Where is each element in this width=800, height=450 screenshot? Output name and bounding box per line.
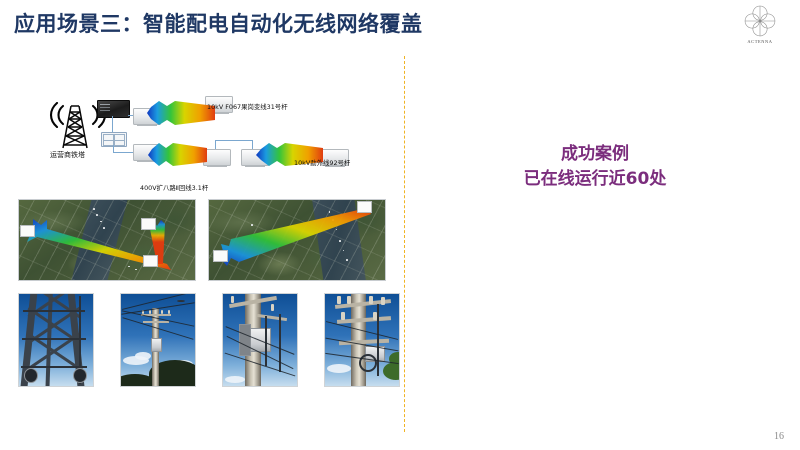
satellite-site-marker — [20, 225, 35, 237]
wire-radio-d-riser — [252, 140, 253, 149]
label-pole-f067: 10kV F067果岗变线31号杆 — [207, 102, 288, 111]
tower-equipment — [24, 368, 38, 383]
pole-mounted-equipment-photo — [222, 293, 298, 387]
beam-c-to-b — [147, 141, 209, 169]
steel-lattice-tower-photo — [18, 293, 94, 387]
bird-silhouette — [177, 300, 185, 302]
page-title: 应用场景三：智能配电自动化无线网络覆盖 — [14, 8, 423, 38]
label-pole-92: 10kV勐外线92号杆 — [294, 158, 350, 167]
satellite-site-marker — [143, 255, 158, 267]
success-case-callout: 成功案例 已在线运行近60处 — [410, 142, 780, 191]
crossarm — [143, 321, 169, 323]
vertical-dashed-divider — [404, 56, 405, 432]
callout-line-2: 已在线运行近60处 — [410, 167, 780, 192]
wire-radio-c-riser — [215, 140, 216, 149]
operator-tower-icon — [58, 104, 92, 149]
callout-line-1: 成功案例 — [410, 142, 780, 167]
hill-silhouette — [120, 374, 155, 387]
page-number: 16 — [774, 431, 784, 442]
brand-name: ACTENNA — [732, 39, 788, 44]
satellite-beam-overlay-2 — [215, 206, 373, 268]
gateway-device — [97, 100, 130, 118]
network-topology-diagram: 运营商铁塔 10kV F067果岗变线31号杆 400V扩八路Ⅱ回线3.1杆 1… — [45, 86, 395, 196]
concrete-pole-photo — [120, 293, 196, 387]
satellite-site-marker — [357, 201, 372, 213]
satellite-site-marker — [213, 250, 228, 262]
tower-equipment — [73, 368, 87, 383]
wire-gateway-to-switch — [112, 116, 113, 132]
wire-radio-c-to-d — [215, 140, 253, 141]
pole-mounted-cabinet — [151, 338, 162, 352]
label-pole-400v: 400V扩八路Ⅱ回线3.1杆 — [140, 183, 208, 192]
satellite-site-marker — [141, 218, 156, 230]
left-content-pane: 运营商铁塔 10kV F067果岗变线31号杆 400V扩八路Ⅱ回线3.1杆 1… — [0, 56, 400, 450]
wire-switch-down — [113, 145, 114, 152]
satellite-coverage-map-2 — [208, 199, 386, 281]
right-content-pane: 成功案例 已在线运行近60处 — [410, 56, 800, 450]
network-switch — [101, 132, 127, 147]
four-petal-flower-icon — [743, 4, 777, 38]
satellite-coverage-map-1 — [18, 199, 196, 281]
brand-logo: ACTENNA — [732, 4, 788, 54]
label-operator-tower: 运营商铁塔 — [50, 150, 85, 160]
pole-mounted-cabinet — [239, 324, 251, 356]
distribution-pole-closeup-photo — [324, 293, 400, 387]
